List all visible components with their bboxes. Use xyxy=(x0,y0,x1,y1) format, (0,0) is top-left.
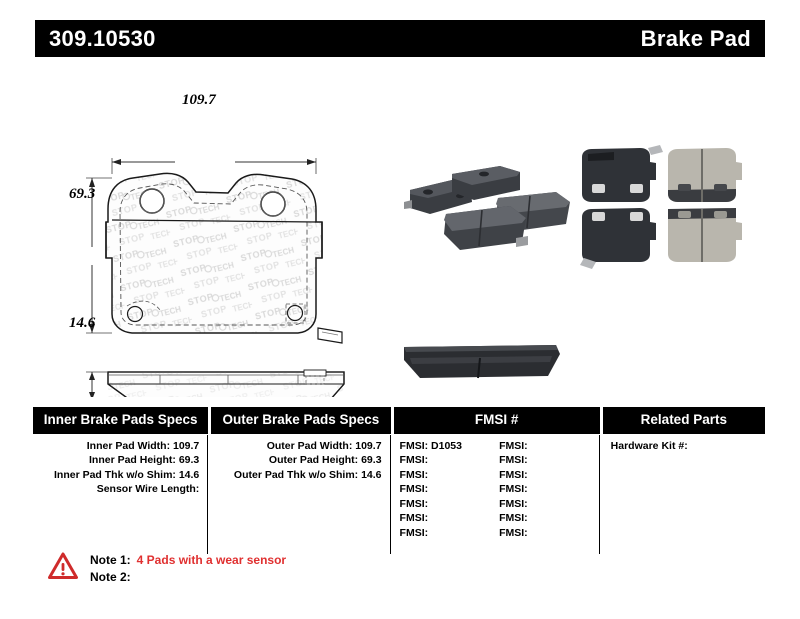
header-related-parts: Related Parts xyxy=(603,407,765,434)
fmsi-row: FMSI: D1053 xyxy=(400,439,500,454)
spec-row: Outer Pad Height: 69.3 xyxy=(211,453,389,468)
part-number: 309.10530 xyxy=(49,26,156,52)
fmsi-row: FMSI: xyxy=(400,453,500,468)
spec-row: Inner Pad Width: 109.7 xyxy=(33,439,207,454)
fmsi-row: FMSI: xyxy=(400,526,500,541)
notes-text-block: Note 1:4 Pads with a wear sensor Note 2: xyxy=(90,552,286,586)
fmsi-row: FMSI: xyxy=(499,453,599,468)
photo-edge-stack xyxy=(404,345,560,378)
technical-drawing-svg: STOP TECH STOP TECH xyxy=(0,62,800,397)
warning-icon xyxy=(48,552,78,579)
spec-row: Sensor Wire Length: xyxy=(33,482,207,497)
fmsi-sub-column-left: FMSI: D1053 FMSI: FMSI: FMSI: FMSI: FMSI… xyxy=(400,439,500,541)
note-2-line: Note 2: xyxy=(90,569,286,586)
header-outer-specs: Outer Brake Pads Specs xyxy=(211,407,390,434)
specifications-table: Inner Brake Pads Specs Outer Brake Pads … xyxy=(33,407,765,554)
fmsi-row: FMSI: xyxy=(499,439,599,454)
fmsi-row: FMSI: xyxy=(400,468,500,483)
table-body: Inner Pad Width: 109.7 Inner Pad Height:… xyxy=(33,434,765,554)
outer-specs-column: Outer Pad Width: 109.7 Outer Pad Height:… xyxy=(211,434,390,554)
note-1-label: Note 1: xyxy=(90,552,131,569)
spec-row: Outer Pad Thk w/o Shim: 14.6 xyxy=(211,468,389,483)
photo-angled-pads xyxy=(404,166,570,250)
spec-row: Inner Pad Thk w/o Shim: 14.6 xyxy=(33,468,207,483)
note-1-value: 4 Pads with a wear sensor xyxy=(137,553,286,567)
fmsi-sub-column-right: FMSI: FMSI: FMSI: FMSI: FMSI: FMSI: FMSI… xyxy=(499,439,599,541)
fmsi-row: FMSI: xyxy=(400,511,500,526)
dimension-thickness-label: 14.6 xyxy=(69,315,95,332)
dimension-width-label: 109.7 xyxy=(182,92,216,109)
notes-section: Note 1:4 Pads with a wear sensor Note 2: xyxy=(48,552,286,586)
table-header-row: Inner Brake Pads Specs Outer Brake Pads … xyxy=(33,407,765,434)
photo-pad-grid xyxy=(580,145,742,269)
fmsi-row: FMSI: xyxy=(499,468,599,483)
spec-row: Inner Pad Height: 69.3 xyxy=(33,453,207,468)
product-type: Brake Pad xyxy=(641,26,751,52)
dimension-height-label: 69.3 xyxy=(69,186,95,203)
fmsi-row: FMSI: xyxy=(400,497,500,512)
header-inner-specs: Inner Brake Pads Specs xyxy=(33,407,208,434)
related-parts-column: Hardware Kit #: xyxy=(603,434,765,554)
note-1-line: Note 1:4 Pads with a wear sensor xyxy=(90,552,286,569)
drawing-area: STOP TECH STOP TECH xyxy=(0,62,800,397)
fmsi-row: FMSI: xyxy=(499,526,599,541)
inner-specs-column: Inner Pad Width: 109.7 Inner Pad Height:… xyxy=(33,434,208,554)
fmsi-row: FMSI: xyxy=(499,497,599,512)
fmsi-row: FMSI: xyxy=(400,482,500,497)
spec-row: Outer Pad Width: 109.7 xyxy=(211,439,389,454)
header-bar: 309.10530 Brake Pad xyxy=(35,20,765,57)
header-fmsi: FMSI # xyxy=(394,407,600,434)
related-parts-row: Hardware Kit #: xyxy=(603,439,765,454)
fmsi-column: FMSI: D1053 FMSI: FMSI: FMSI: FMSI: FMSI… xyxy=(394,434,600,554)
fmsi-row: FMSI: xyxy=(499,482,599,497)
fmsi-row: FMSI: xyxy=(499,511,599,526)
note-2-label: Note 2: xyxy=(90,569,131,586)
